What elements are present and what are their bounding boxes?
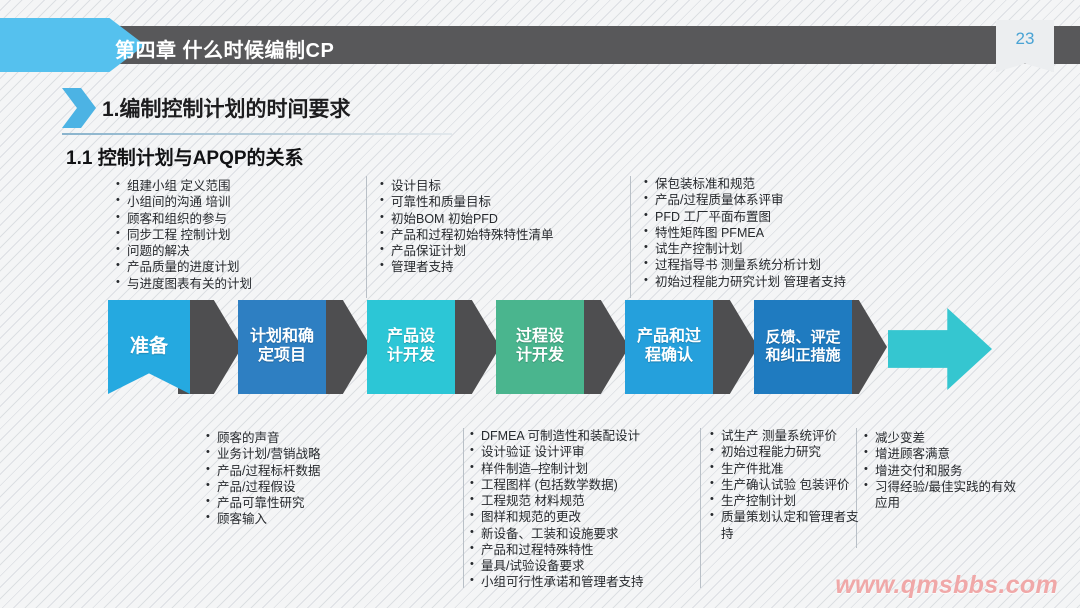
process-step-label: 反馈、评定 和纠正措施 [765,329,840,364]
list-item: 量具/试验设备要求 [470,558,644,574]
process-step-3[interactable]: 产品设 计开发 [367,300,455,394]
list-item: 产品和过程特殊特性 [470,542,644,558]
list-item: 保包装标准和规范 [644,176,846,192]
list-item: 设计验证 设计评审 [470,444,644,460]
list-item: 工程规范 材料规范 [470,493,644,509]
list-item: 小组间的沟通 培训 [116,194,252,210]
list-item: 顾客的声音 [206,430,320,446]
process-step-6[interactable]: 反馈、评定 和纠正措施 [754,300,852,394]
list-item: 质量策划认定和管理者支持 [710,509,861,542]
output-list-group-4: 减少变差增进顾客满意增进交付和服务习得经验/最佳实践的有效应用 [864,430,1025,511]
list-item: 产品/过程标杆数据 [206,463,320,479]
list-item: 减少变差 [864,430,1025,446]
list-item: 图样和规范的更改 [470,509,644,525]
process-step-label: 准备 [130,336,168,358]
list-item: PFD 工厂平面布置图 [644,209,846,225]
list-item: 产品可靠性研究 [206,495,320,511]
header-title: 第四章 什么时候编制CP [115,34,334,63]
separator-top-1 [366,176,367,298]
list-item: 可靠性和质量目标 [380,194,554,210]
list-item: 与进度图表有关的计划 [116,276,252,292]
input-list-group-3: 保包装标准和规范产品/过程质量体系评审PFD 工厂平面布置图特性矩阵图 PFME… [644,176,846,290]
input-list-group-2: 设计目标可靠性和质量目标初始BOM 初始PFD产品和过程初始特殊特性清单产品保证… [380,178,554,276]
separator-bottom-2 [700,428,701,588]
process-flow: 准备计划和确 定项目产品设 计开发过程设 计开发产品和过 程确认反馈、评定 和纠… [0,300,1080,420]
list-item: 业务计划/营销战略 [206,446,320,462]
list-item: 设计目标 [380,178,554,194]
output-list-group-3: 试生产 测量系统评价初始过程能力研究生产件批准生产确认试验 包装评价生产控制计划… [710,428,861,542]
process-step-label: 产品和过 程确认 [637,328,701,366]
list-item: 顾客输入 [206,511,320,527]
list-item: 样件制造–控制计划 [470,461,644,477]
list-item: 产品和过程初始特殊特性清单 [380,227,554,243]
process-step-4[interactable]: 过程设 计开发 [496,300,584,394]
list-item: 增进顾客满意 [864,446,1025,462]
list-item: 产品/过程质量体系评审 [644,192,846,208]
process-step-label: 计划和确 定项目 [250,328,314,366]
list-item: 产品/过程假设 [206,479,320,495]
list-item: 特性矩阵图 PFMEA [644,225,846,241]
process-step-label: 产品设 计开发 [387,328,435,366]
list-item: 初始过程能力研究计划 管理者支持 [644,274,846,290]
list-item: 新设备、工装和设施要求 [470,526,644,542]
site-watermark: www.qmsbbs.com [835,571,1058,600]
list-item: 顾客和组织的参与 [116,211,252,227]
list-item: 工程图样 (包括数学数据) [470,477,644,493]
process-step-2[interactable]: 计划和确 定项目 [238,300,326,394]
list-item: 初始BOM 初始PFD [380,211,554,227]
list-item: 产品保证计划 [380,243,554,259]
section-divider [62,133,452,135]
process-end-arrow-icon [888,308,992,390]
input-list-group-1: 组建小组 定义范围小组间的沟通 培训顾客和组织的参与同步工程 控制计划问题的解决… [116,178,252,292]
list-item: 生产确认试验 包装评价 [710,477,861,493]
list-item: 增进交付和服务 [864,463,1025,479]
list-item: 生产控制计划 [710,493,861,509]
list-item: 产品质量的进度计划 [116,259,252,275]
section-title-secondary: 1.1 控制计划与APQP的关系 [66,143,304,170]
list-item: 问题的解决 [116,243,252,259]
list-item: 试生产 测量系统评价 [710,428,861,444]
list-item: 小组可行性承诺和管理者支持 [470,574,644,590]
process-step-5[interactable]: 产品和过 程确认 [625,300,713,394]
list-item: 组建小组 定义范围 [116,178,252,194]
list-item: 管理者支持 [380,259,554,275]
process-step-1[interactable]: 准备 [108,300,190,394]
process-step-label: 过程设 计开发 [516,328,564,366]
list-item: 生产件批准 [710,461,861,477]
separator-top-2 [630,176,631,298]
list-item: 习得经验/最佳实践的有效应用 [864,479,1025,512]
output-list-group-1: 顾客的声音业务计划/营销战略产品/过程标杆数据产品/过程假设产品可靠性研究顾客输… [206,430,320,528]
separator-bottom-1 [463,428,464,588]
page-number-label: 23 [1016,29,1035,49]
list-item: 初始过程能力研究 [710,444,861,460]
list-item: DFMEA 可制造性和装配设计 [470,428,644,444]
output-list-group-2: DFMEA 可制造性和装配设计设计验证 设计评审样件制造–控制计划工程图样 (包… [470,428,644,591]
section-title-primary: 1.编制控制计划的时间要求 [102,93,351,123]
list-item: 试生产控制计划 [644,241,846,257]
list-item: 过程指导书 测量系统分析计划 [644,257,846,273]
list-item: 同步工程 控制计划 [116,227,252,243]
